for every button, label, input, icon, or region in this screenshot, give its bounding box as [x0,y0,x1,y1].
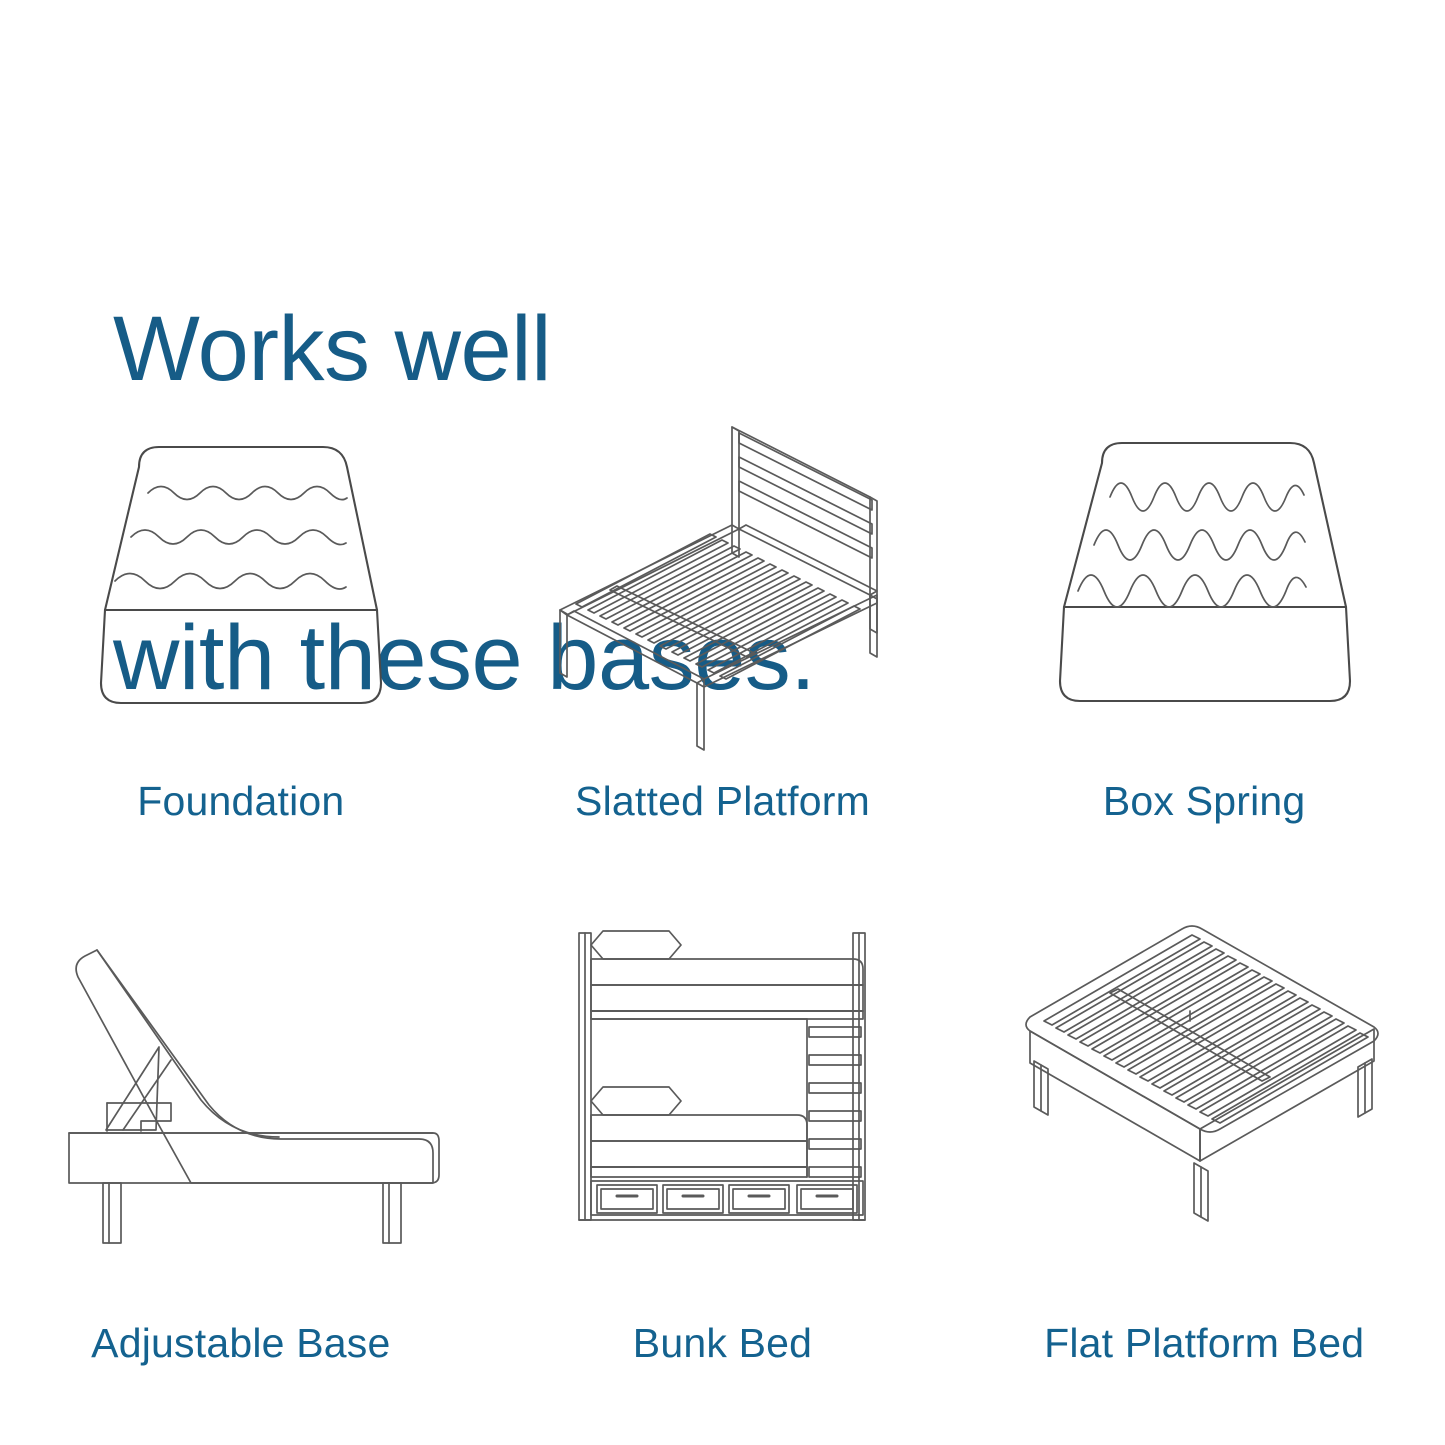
flat-platform-bed-illustration [1014,915,1394,1235]
base-card-adjustable-base[interactable]: Adjustable Base [0,890,482,1390]
foundation-art [0,390,482,760]
slatted-platform-art [482,390,964,760]
base-label-foundation: Foundation [137,778,344,825]
box-spring-art [963,390,1445,760]
base-card-foundation[interactable]: Foundation [0,390,482,890]
base-card-flat-platform-bed[interactable]: Flat Platform Bed [963,890,1445,1390]
base-label-flat-platform-bed: Flat Platform Bed [1044,1320,1364,1367]
base-label-adjustable-base: Adjustable Base [91,1320,390,1367]
base-label-box-spring: Box Spring [1103,778,1306,825]
base-label-bunk-bed: Bunk Bed [633,1320,812,1367]
slatted-platform-bed-illustration [532,405,912,745]
box-spring-illustration [1024,425,1384,725]
base-card-slatted-platform[interactable]: Slatted Platform [482,390,964,890]
flat-platform-art [963,890,1445,1260]
adjustable-base-illustration [41,925,441,1225]
page-title-line-1: Works well [113,298,1013,401]
base-card-box-spring[interactable]: Box Spring [963,390,1445,890]
foundation-illustration [61,425,421,725]
bunk-bed-illustration [557,915,887,1235]
infographic-page: Works well with these bases. [0,0,1445,1445]
bunk-bed-art [482,890,964,1260]
base-card-bunk-bed[interactable]: Bunk Bed [482,890,964,1390]
base-label-slatted-platform: Slatted Platform [575,778,870,825]
adjustable-base-art [0,890,482,1260]
bases-grid: Foundation [0,390,1445,1390]
